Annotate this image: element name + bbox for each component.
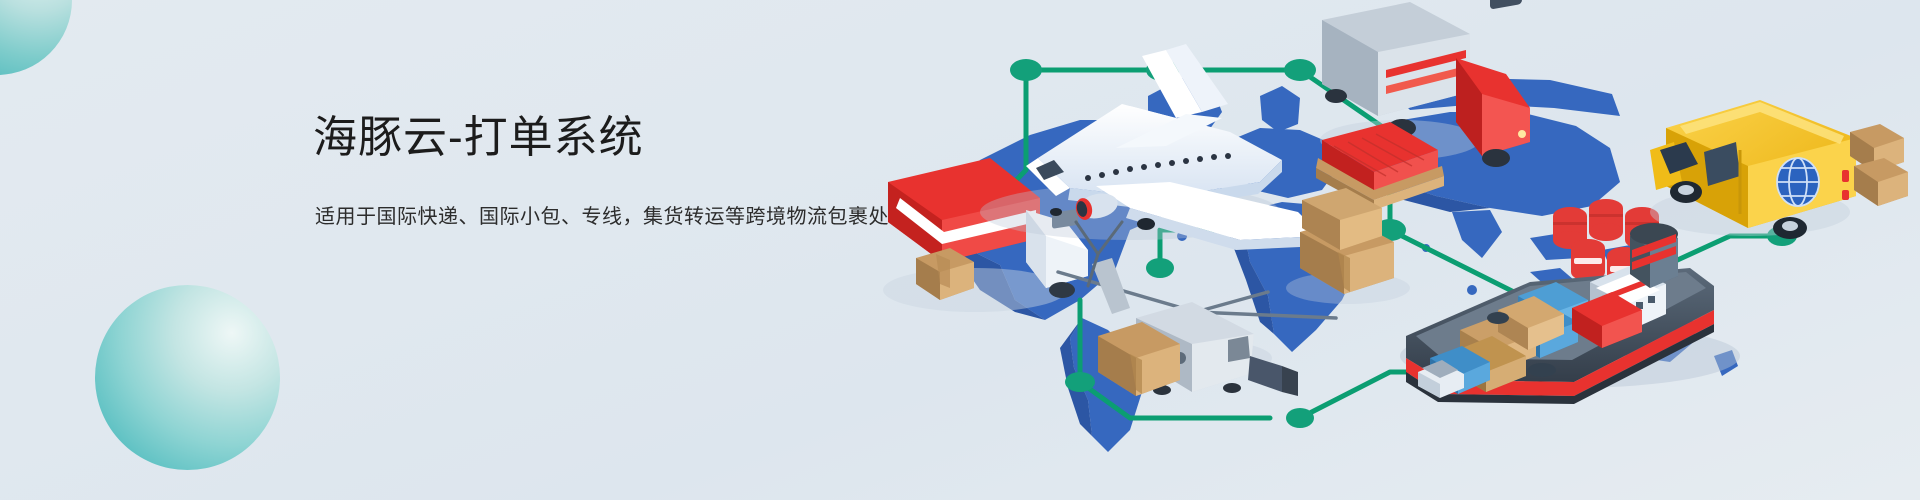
yellow-van-icon [1650, 100, 1908, 239]
page-subtitle: 适用于国际快递、国际小包、专线，集货转运等跨境物流包裹处理 [315, 200, 910, 229]
teal-gradient-circle-bottom-left [95, 285, 280, 470]
banner-text-block: 海豚云-打单系统 适用于国际快递、国际小包、专线，集货转运等跨境物流包裹处理 [313, 112, 910, 229]
teal-gradient-circle-top-left [0, 0, 72, 75]
isometric-world-logistics-map [830, 0, 1920, 500]
hero-banner: 海豚云-打单系统 适用于国际快递、国际小包、专线，集货转运等跨境物流包裹处理 [0, 0, 1920, 500]
page-title: 海豚云-打单系统 [313, 112, 910, 164]
cargo-boxes-icon [1850, 124, 1908, 206]
globe-logo-icon [1777, 158, 1819, 206]
